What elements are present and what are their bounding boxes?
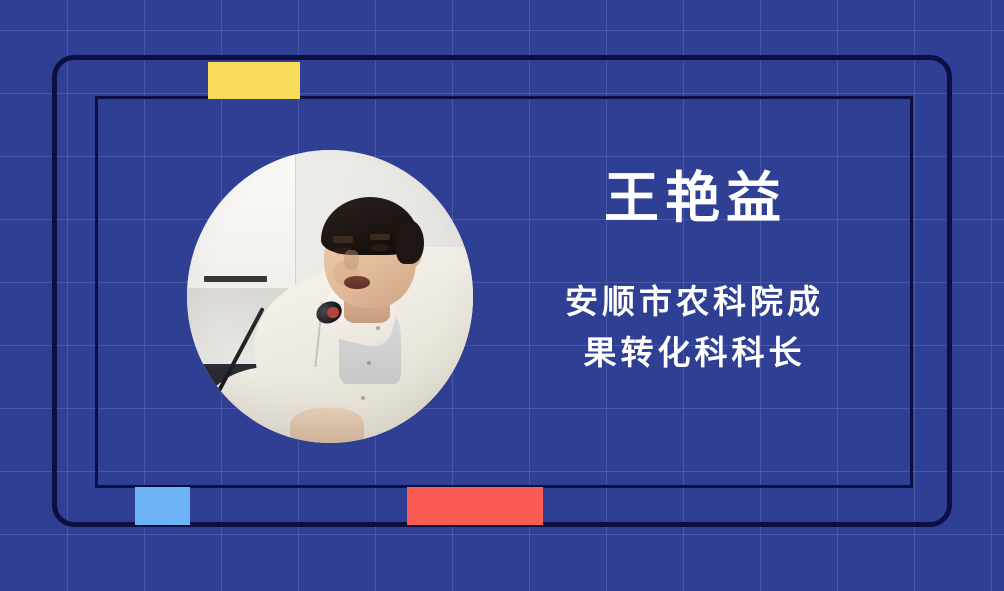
portrait-photo <box>187 150 473 443</box>
yellow-accent-block <box>208 62 300 99</box>
red-accent-block <box>407 487 543 525</box>
speaker-title-line-1: 安顺市农科院成 <box>505 276 880 327</box>
speaker-info: 王艳益 安顺市农科院成 果转化科科长 <box>505 170 880 378</box>
speaker-title: 安顺市农科院成 果转化科科长 <box>505 276 880 378</box>
speaker-card: 王艳益 安顺市农科院成 果转化科科长 <box>0 0 1004 591</box>
speaker-title-line-2: 果转化科科长 <box>505 327 880 378</box>
speaker-name: 王艳益 <box>505 170 880 228</box>
photo-vignette <box>187 150 473 443</box>
blue-accent-block <box>135 487 190 525</box>
speaker-portrait <box>187 150 473 443</box>
